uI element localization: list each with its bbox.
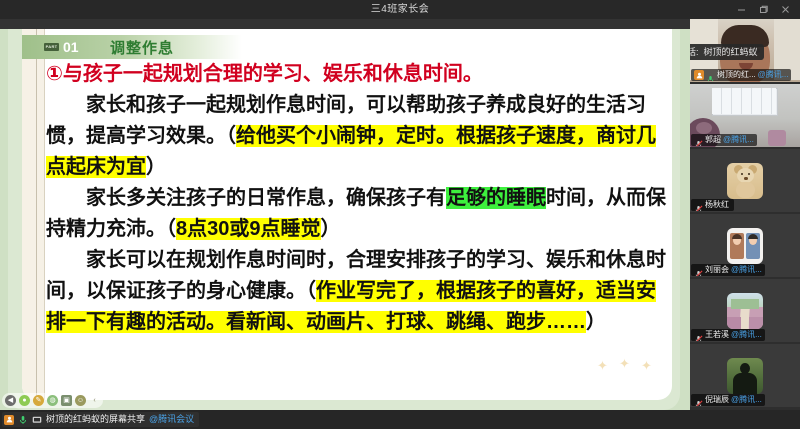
collapse-icon[interactable]: ◀ <box>5 395 16 406</box>
participant-name: 刘丽会 <box>705 264 729 276</box>
host-icon <box>4 415 14 425</box>
participant-tag: @腾讯... <box>731 329 762 341</box>
window-controls <box>730 0 796 19</box>
participant-name: 倪瑞辰 <box>705 394 729 406</box>
para-seg-highlight: 足够的睡眠 <box>446 187 546 209</box>
participant-nameplate: 刘丽会 @腾讯... <box>691 264 765 276</box>
sparkle-icon: ✦ <box>619 357 630 370</box>
para-seg: 家长多关注孩子的日常作息，确保孩子有 <box>86 187 446 209</box>
microphone-muted-icon <box>694 331 703 340</box>
part-badge: PART 01 <box>44 40 79 54</box>
participant-tile[interactable]: 王若溪 @腾讯... <box>690 279 800 342</box>
microphone-icon <box>706 71 715 80</box>
slide-left-strip <box>22 29 45 400</box>
screen-share-indicator[interactable]: 树顶的红蚂蚁的屏幕共享 @腾讯会议 <box>2 412 199 427</box>
share-tag-label: @腾讯会议 <box>149 412 194 427</box>
participant-name: 树顶的红... <box>717 69 756 81</box>
participant-nameplate: 郭超 @腾讯... <box>691 134 757 146</box>
participant-tile[interactable]: 杨秋红 <box>690 149 800 212</box>
participant-name: 杨秋红 <box>705 199 729 211</box>
avatar <box>727 358 763 394</box>
sparkle-icon: ✦ <box>597 359 608 372</box>
host-icon <box>694 70 704 80</box>
presentation-slide: PART 01 调整作息 ①与孩子一起规划合理的学习、娱乐和休息时间。 家长和孩… <box>0 29 690 410</box>
microphone-muted-icon <box>694 201 703 210</box>
participant-tile[interactable]: 郭超 @腾讯... <box>690 84 800 147</box>
participant-name: 郭超 <box>705 134 721 146</box>
pointer-icon[interactable]: ● <box>19 395 30 406</box>
participant-tag: @腾讯... <box>731 264 762 276</box>
para-seg-highlight: 8点30或9点睡觉 <box>176 218 321 240</box>
para-seg: ） <box>586 311 606 333</box>
share-owner-label: 树顶的红蚂蚁的屏幕共享 <box>46 412 145 427</box>
para-seg: ） <box>146 156 166 178</box>
participant-nameplate: 倪瑞辰 @腾讯... <box>691 394 765 406</box>
slide-frame: PART 01 调整作息 ①与孩子一起规划合理的学习、娱乐和休息时间。 家长和孩… <box>8 29 680 410</box>
speaking-prefix: 正在讲话: <box>690 44 699 60</box>
participant-nameplate: 王若溪 @腾讯... <box>691 329 765 341</box>
avatar <box>727 293 763 329</box>
speaking-speaker-name: 树顶的红蚂蚁 <box>704 44 758 60</box>
microphone-muted-icon <box>694 396 703 405</box>
sparkle-icon: ✦ <box>641 359 652 372</box>
participant-tile[interactable]: 刘丽会 @腾讯... <box>690 214 800 277</box>
minimize-icon[interactable] <box>730 0 752 19</box>
emoji-icon[interactable]: ☺ <box>75 395 86 406</box>
microphone-muted-icon <box>694 266 703 275</box>
more-icon[interactable]: ‹ <box>89 395 100 406</box>
slide-canvas: PART 01 调整作息 ①与孩子一起规划合理的学习、娱乐和休息时间。 家长和孩… <box>22 29 672 400</box>
slide-paragraph: 家长可以在规划作息时间时，合理安排孩子的学习、娱乐和休息时间，以保证孩子的身心健… <box>46 245 670 338</box>
status-bar: 树顶的红蚂蚁的屏幕共享 @腾讯会议 <box>0 410 800 429</box>
participant-tag: @腾讯... <box>723 134 754 146</box>
participant-tag: @腾讯... <box>731 394 762 406</box>
slide-paragraph: 家长和孩子一起规划作息时间，可以帮助孩子养成良好的生活习惯，提高学习效果。（给他… <box>46 90 670 183</box>
pen-icon[interactable]: ✎ <box>33 395 44 406</box>
avatar <box>727 163 763 199</box>
participant-tile[interactable]: 树顶的红... @腾讯... 正在讲话: 树顶的红蚂蚁 <box>690 19 800 82</box>
part-title: 调整作息 <box>110 37 174 58</box>
record-icon[interactable]: ▣ <box>61 395 72 406</box>
participant-name: 王若溪 <box>705 329 729 341</box>
microphone-icon <box>18 415 28 425</box>
participant-tile[interactable]: 倪瑞辰 @腾讯... <box>690 344 800 407</box>
slide-red-heading: ①与孩子一起规划合理的学习、娱乐和休息时间。 <box>46 59 670 89</box>
part-label: PART <box>44 43 59 51</box>
restore-icon[interactable] <box>752 0 774 19</box>
participant-tag: @腾讯... <box>758 69 789 81</box>
participant-rail[interactable]: 树顶的红... @腾讯... 正在讲话: 树顶的红蚂蚁 <box>690 19 800 410</box>
eraser-icon[interactable]: ◍ <box>47 395 58 406</box>
shared-screen-stage: PART 01 调整作息 ①与孩子一起规划合理的学习、娱乐和休息时间。 家长和孩… <box>0 19 690 410</box>
para-seg: ） <box>321 218 341 240</box>
window-title: 三4班家长会 <box>371 0 430 19</box>
speaking-banner: 正在讲话: 树顶的红蚂蚁 <box>690 44 764 60</box>
slide-body-text: ①与孩子一起规划合理的学习、娱乐和休息时间。 家长和孩子一起规划作息时间，可以帮… <box>46 59 670 338</box>
screen-share-icon <box>32 415 42 425</box>
title-bar: 三4班家长会 <box>0 0 800 19</box>
participant-nameplate: 杨秋红 <box>691 199 734 211</box>
annotation-toolbar[interactable]: ◀ ● ✎ ◍ ▣ ☺ ‹ <box>2 393 103 408</box>
meeting-window: 三4班家长会 <box>0 0 800 429</box>
avatar <box>727 228 763 264</box>
slide-paragraph: 家长多关注孩子的日常作息，确保孩子有足够的睡眠时间，从而保持精力充沛。（8点30… <box>46 183 670 245</box>
close-icon[interactable] <box>774 0 796 19</box>
part-number: 01 <box>63 40 79 54</box>
microphone-muted-icon <box>694 136 703 145</box>
participant-nameplate: 树顶的红... @腾讯... <box>691 69 791 81</box>
